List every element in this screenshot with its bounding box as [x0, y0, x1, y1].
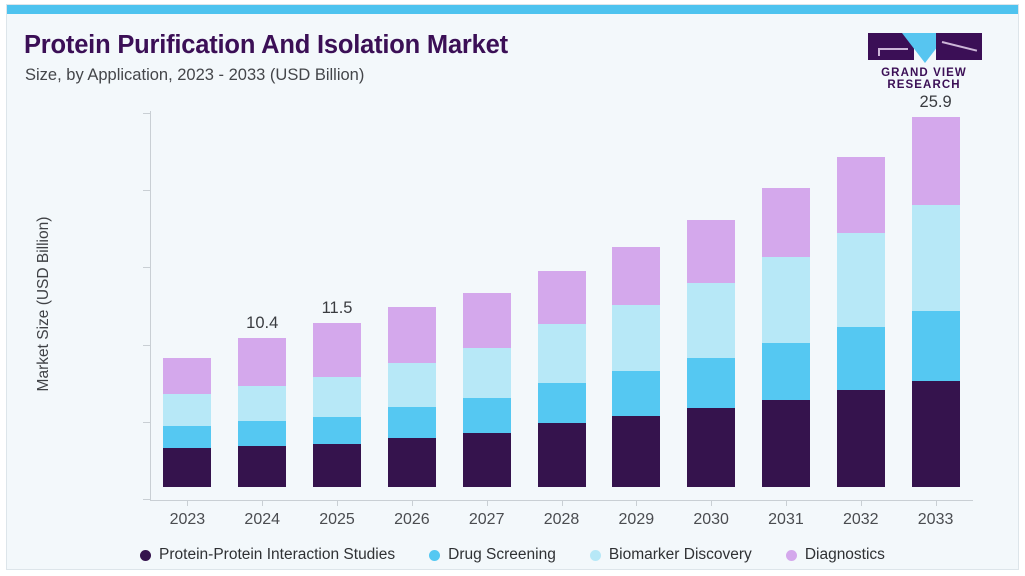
bar-stack[interactable] — [388, 307, 436, 487]
bar-segment[interactable] — [463, 433, 511, 487]
x-tick-mark — [636, 500, 637, 506]
bar-segment[interactable] — [687, 220, 735, 283]
bar-segment[interactable] — [238, 338, 286, 385]
x-tick-mark — [711, 500, 712, 506]
bar-segment[interactable] — [762, 400, 810, 487]
bar-segment[interactable] — [687, 358, 735, 408]
x-tick-mark — [936, 500, 937, 506]
bar-segment[interactable] — [238, 421, 286, 445]
bar-segment[interactable] — [313, 417, 361, 444]
legend-swatch-icon — [590, 550, 601, 561]
bar-segment[interactable] — [463, 293, 511, 349]
bar-segment[interactable] — [163, 426, 211, 449]
legend-swatch-icon — [429, 550, 440, 561]
bar-value-label: 25.9 — [891, 93, 981, 112]
y-tick-mark — [143, 267, 150, 268]
x-tick-mark — [412, 500, 413, 506]
bar-stack[interactable]: 25.9 — [912, 117, 960, 487]
x-tick-label: 2033 — [891, 511, 981, 529]
x-tick-mark — [262, 500, 263, 506]
bar-segment[interactable] — [313, 377, 361, 417]
legend-item[interactable]: Protein-Protein Interaction Studies — [140, 546, 395, 564]
bar-segment[interactable] — [538, 423, 586, 487]
bar-stack[interactable] — [463, 293, 511, 487]
chart-card: Protein Purification And Isolation Marke… — [6, 4, 1019, 570]
x-tick-mark — [786, 500, 787, 506]
legend-item[interactable]: Diagnostics — [786, 546, 885, 564]
bar-segment[interactable] — [762, 257, 810, 343]
bar-segment[interactable] — [238, 446, 286, 487]
bar-segment[interactable] — [163, 448, 211, 487]
legend-label: Protein-Protein Interaction Studies — [159, 546, 395, 564]
bar-segment[interactable] — [463, 348, 511, 398]
bar-segment[interactable] — [837, 327, 885, 390]
legend-label: Biomarker Discovery — [609, 546, 752, 564]
bar-segment[interactable] — [163, 358, 211, 394]
legend-label: Drug Screening — [448, 546, 556, 564]
bar-segment[interactable] — [538, 271, 586, 324]
x-tick-mark — [187, 500, 188, 506]
y-tick-mark — [143, 113, 150, 114]
bar-segment[interactable] — [238, 386, 286, 422]
bar-segment[interactable] — [687, 283, 735, 359]
bar-segment[interactable] — [837, 233, 885, 327]
x-tick-mark — [337, 500, 338, 506]
bar-segment[interactable] — [612, 305, 660, 371]
bar-segment[interactable] — [837, 390, 885, 487]
plot-area: Market Size (USD Billion) 0.05.410.816.2… — [7, 5, 1018, 569]
y-axis-line — [150, 111, 151, 501]
bar-segment[interactable] — [912, 117, 960, 206]
bar-stack[interactable] — [687, 220, 735, 487]
bar-stack[interactable]: 10.4 — [238, 338, 286, 487]
legend-label: Diagnostics — [805, 546, 885, 564]
bar-segment[interactable] — [912, 311, 960, 381]
legend-item[interactable]: Drug Screening — [429, 546, 556, 564]
bar-stack[interactable] — [538, 271, 586, 487]
bar-segment[interactable] — [912, 381, 960, 487]
bar-segment[interactable] — [388, 438, 436, 487]
bar-segment[interactable] — [463, 398, 511, 432]
bar-stack[interactable]: 11.5 — [313, 323, 361, 487]
bar-segment[interactable] — [612, 371, 660, 415]
x-tick-mark — [487, 500, 488, 506]
legend-swatch-icon — [786, 550, 797, 561]
bar-segment[interactable] — [163, 394, 211, 425]
y-tick-mark — [143, 345, 150, 346]
bar-segment[interactable] — [388, 407, 436, 438]
bar-segment[interactable] — [837, 157, 885, 233]
bar-segment[interactable] — [612, 247, 660, 306]
y-tick-mark — [143, 422, 150, 423]
bar-stack[interactable] — [612, 247, 660, 487]
bar-segment[interactable] — [687, 408, 735, 487]
y-tick-mark — [143, 499, 150, 500]
x-tick-mark — [562, 500, 563, 506]
bar-segment[interactable] — [538, 383, 586, 423]
bar-value-label: 11.5 — [292, 299, 382, 318]
bar-segment[interactable] — [313, 444, 361, 487]
bar-stack[interactable] — [163, 358, 211, 487]
x-tick-mark — [861, 500, 862, 506]
legend-swatch-icon — [140, 550, 151, 561]
bar-stack[interactable] — [762, 188, 810, 487]
bar-segment[interactable] — [388, 363, 436, 407]
legend-item[interactable]: Biomarker Discovery — [590, 546, 752, 564]
bar-segment[interactable] — [762, 188, 810, 257]
bar-segment[interactable] — [388, 307, 436, 363]
bar-segment[interactable] — [313, 323, 361, 377]
bar-segment[interactable] — [912, 205, 960, 311]
y-tick-mark — [143, 190, 150, 191]
bar-segment[interactable] — [762, 343, 810, 400]
y-axis-title: Market Size (USD Billion) — [35, 174, 53, 434]
bar-segment[interactable] — [612, 416, 660, 487]
chart-legend: Protein-Protein Interaction StudiesDrug … — [7, 540, 1018, 570]
bar-stack[interactable] — [837, 157, 885, 487]
bar-segment[interactable] — [538, 324, 586, 383]
